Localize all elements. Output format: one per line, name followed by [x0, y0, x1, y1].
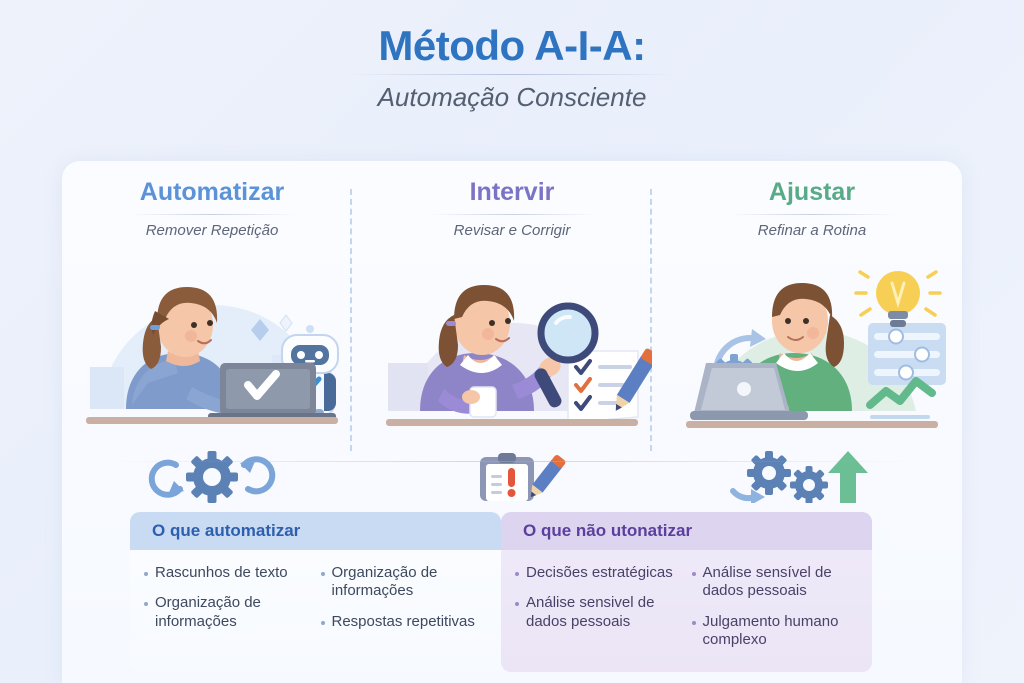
column-header: Intervir Revisar e Corrigir — [362, 179, 662, 239]
lightbulb — [856, 271, 940, 327]
method-columns: Automatizar Remover Repetição — [62, 161, 962, 491]
list-item: Análise sensivel de dados pessoais — [515, 594, 682, 631]
header: Método A-I-A: Automação Consciente — [0, 24, 1024, 113]
gears-up-arrow-icon — [727, 451, 897, 503]
column-subtitle-automatizar: Remover Repetição — [62, 222, 362, 239]
column-title-underline — [130, 214, 295, 215]
bullet-icon — [692, 621, 696, 625]
column-title-automatizar: Automatizar — [62, 179, 362, 207]
list-item: Rascunhos de texto — [144, 564, 311, 582]
list-item-label: Decisões estratégicas — [526, 564, 673, 582]
subtitle-wrap: Automação Consciente — [0, 82, 1024, 113]
bullet-icon — [144, 572, 148, 576]
list-item: Julgamento humano complexo — [692, 613, 855, 650]
column-subtitle-ajustar: Refinar a Rotina — [662, 222, 962, 239]
panel-o-que-automatizar: O que automatizar Rascunhos de texto Org… — [130, 512, 501, 672]
list-item: Respostas repetitivas — [321, 613, 484, 631]
panel-header-left: O que automatizar — [130, 512, 501, 550]
content-card: Automatizar Remover Repetição — [62, 161, 962, 683]
list-item-label: Julgamento humano complexo — [703, 613, 855, 650]
subtitle-divider — [347, 74, 677, 75]
list-item: Organização de informações — [321, 564, 484, 601]
panel-header-right: O que não utonatizar — [501, 512, 872, 550]
column-header: Ajustar Refinar a Rotina — [662, 179, 962, 239]
bullet-icon — [515, 572, 519, 576]
icon-row-ajustar — [662, 451, 962, 507]
column-ajustar: Ajustar Refinar a Rotina — [662, 179, 962, 491]
list-item: Decisões estratégicas — [515, 564, 682, 582]
gear-cycle-arrows-icon — [132, 451, 292, 503]
column-intervir: Intervir Revisar e Corrigir — [362, 179, 662, 491]
list-item-label: Análise sensível de dados pessoais — [703, 564, 855, 601]
summary-panels: O que automatizar Rascunhos de texto Org… — [130, 512, 872, 672]
bullet-icon — [515, 602, 519, 606]
sliders-panel — [868, 323, 946, 385]
column-title-underline — [730, 214, 895, 215]
bullet-icon — [692, 572, 696, 576]
panel-body-right: Decisões estratégicas Análise sensivel d… — [501, 550, 872, 672]
bullet-icon — [321, 572, 325, 576]
page-subtitle: Automação Consciente — [0, 82, 1024, 113]
panel-body-left: Rascunhos de texto Organização de inform… — [130, 550, 501, 672]
list-item: Organização de informações — [144, 594, 311, 631]
section-divider — [102, 461, 922, 462]
column-title-ajustar: Ajustar — [662, 179, 962, 207]
column-automatizar: Automatizar Remover Repetição — [62, 179, 362, 491]
list-item-label: Análise sensivel de dados pessoais — [526, 594, 682, 631]
panel-heading-left: O que automatizar — [152, 521, 300, 541]
page-title: Método A-I-A: — [0, 24, 1024, 68]
illustration-ajustar — [672, 259, 952, 449]
list-item-label: Rascunhos de texto — [155, 564, 288, 582]
list-item: Análise sensível de dados pessoais — [692, 564, 855, 601]
panel-left-column-b: Organização de informações Respostas rep… — [317, 564, 490, 672]
illustration-intervir — [372, 259, 652, 449]
icon-row-intervir — [362, 451, 662, 507]
column-title-intervir: Intervir — [362, 179, 662, 207]
list-item-label: Organização de informações — [332, 564, 484, 601]
illustration-automatizar — [72, 259, 352, 449]
column-subtitle-intervir: Revisar e Corrigir — [362, 222, 662, 239]
clipboard-alert-pencil-icon — [432, 451, 592, 503]
infographic-canvas: Método A-I-A: Automação Consciente Autom… — [0, 0, 1024, 683]
bullet-icon — [321, 621, 325, 625]
panel-right-column-a: Decisões estratégicas Análise sensivel d… — [515, 564, 688, 672]
list-item-label: Organização de informações — [155, 594, 311, 631]
panel-left-column-a: Rascunhos de texto Organização de inform… — [144, 564, 317, 672]
panel-heading-right: O que não utonatizar — [523, 521, 692, 541]
bullet-icon — [144, 602, 148, 606]
icon-row-automatizar — [62, 451, 362, 507]
up-arrow — [828, 451, 868, 503]
column-title-underline — [430, 214, 595, 215]
panel-o-que-nao-automatizar: O que não utonatizar Decisões estratégic… — [501, 512, 872, 672]
panel-right-column-b: Análise sensível de dados pessoais Julga… — [688, 564, 861, 672]
list-item-label: Respostas repetitivas — [332, 613, 475, 631]
column-header: Automatizar Remover Repetição — [62, 179, 362, 239]
